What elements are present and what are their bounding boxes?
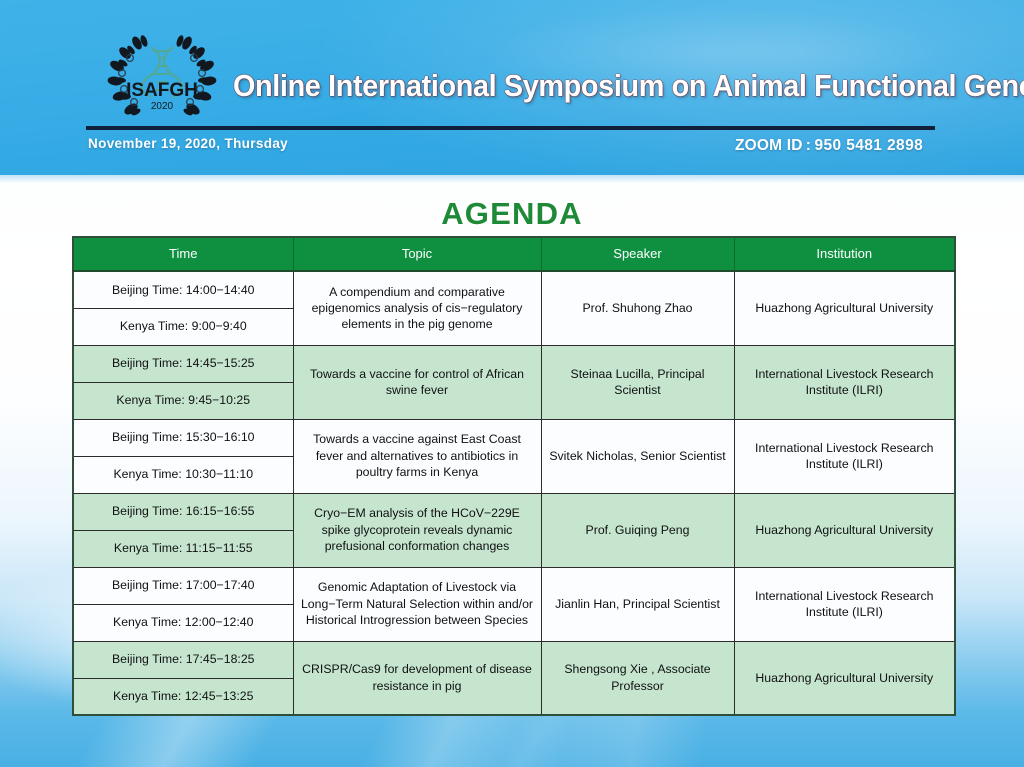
column-header-speaker: Speaker [541, 237, 734, 271]
table-row: Beijing Time: 15:30−16:10Towards a vacci… [73, 419, 955, 456]
session-speaker: Shengsong Xie , Associate Professor [541, 641, 734, 715]
column-header-time: Time [73, 237, 293, 271]
banner-bottom-fade [0, 175, 1024, 183]
session-speaker: Prof. Shuhong Zhao [541, 271, 734, 345]
session-topic: Cryo−EM analysis of the HCoV−229E spike … [293, 493, 541, 567]
column-header-topic: Topic [293, 237, 541, 271]
zoom-id-number: 950 5481 2898 [814, 137, 923, 154]
session-speaker: Prof. Guiqing Peng [541, 493, 734, 567]
session-speaker: Steinaa Lucilla, Principal Scientist [541, 345, 734, 419]
poster-page: ISAFGH 2020 Online International Symposi… [0, 0, 1024, 767]
table-row: Beijing Time: 14:00−14:40A compendium an… [73, 271, 955, 308]
agenda-table: Time Topic Speaker Institution Beijing T… [72, 236, 956, 716]
session-speaker: Jianlin Han, Principal Scientist [541, 567, 734, 641]
zoom-id-separator: : [803, 137, 815, 154]
time-kenya: Kenya Time: 9:45−10:25 [73, 382, 293, 419]
header-divider-rule [86, 126, 935, 130]
session-institution: International Livestock Research Institu… [734, 567, 955, 641]
session-institution: Huazhong Agricultural University [734, 641, 955, 715]
agenda-table-body: Beijing Time: 14:00−14:40A compendium an… [73, 271, 955, 715]
session-institution: International Livestock Research Institu… [734, 345, 955, 419]
time-kenya: Kenya Time: 9:00−9:40 [73, 308, 293, 345]
symposium-title: Online International Symposium on Animal… [233, 64, 898, 110]
zoom-id-block: ZOOM ID:950 5481 2898 [735, 137, 923, 155]
zoom-id-label: ZOOM ID [735, 137, 803, 154]
time-kenya: Kenya Time: 12:00−12:40 [73, 604, 293, 641]
table-row: Beijing Time: 16:15−16:55Cryo−EM analysi… [73, 493, 955, 530]
table-row: Beijing Time: 17:45−18:25CRISPR/Cas9 for… [73, 641, 955, 678]
time-kenya: Kenya Time: 12:45−13:25 [73, 678, 293, 715]
session-topic: Genomic Adaptation of Livestock via Long… [293, 567, 541, 641]
column-header-institution: Institution [734, 237, 955, 271]
time-beijing: Beijing Time: 15:30−16:10 [73, 419, 293, 456]
session-topic: Towards a vaccine for control of African… [293, 345, 541, 419]
agenda-heading: AGENDA [0, 196, 1024, 232]
session-institution: Huazhong Agricultural University [734, 493, 955, 567]
session-topic: A compendium and comparative epigenomics… [293, 271, 541, 345]
agenda-table-container: Time Topic Speaker Institution Beijing T… [72, 236, 956, 716]
time-beijing: Beijing Time: 17:45−18:25 [73, 641, 293, 678]
session-topic: Towards a vaccine against East Coast fev… [293, 419, 541, 493]
time-beijing: Beijing Time: 17:00−17:40 [73, 567, 293, 604]
time-kenya: Kenya Time: 10:30−11:10 [73, 456, 293, 493]
session-topic: CRISPR/Cas9 for development of disease r… [293, 641, 541, 715]
session-speaker: Svitek Nicholas, Senior Scientist [541, 419, 734, 493]
logo-acronym-text: ISAFGH [126, 80, 198, 101]
table-row: Beijing Time: 17:00−17:40Genomic Adaptat… [73, 567, 955, 604]
logo-year-text: 2020 [151, 101, 174, 112]
time-beijing: Beijing Time: 14:45−15:25 [73, 345, 293, 382]
table-row: Beijing Time: 14:45−15:25Towards a vacci… [73, 345, 955, 382]
session-institution: Huazhong Agricultural University [734, 271, 955, 345]
agenda-table-header-row: Time Topic Speaker Institution [73, 237, 955, 271]
time-beijing: Beijing Time: 14:00−14:40 [73, 271, 293, 308]
time-kenya: Kenya Time: 11:15−11:55 [73, 530, 293, 567]
event-date: November 19, 2020, Thursday [88, 136, 288, 151]
header-banner: ISAFGH 2020 Online International Symposi… [0, 0, 1024, 175]
isafgh-logo: ISAFGH 2020 [103, 33, 221, 121]
session-institution: International Livestock Research Institu… [734, 419, 955, 493]
time-beijing: Beijing Time: 16:15−16:55 [73, 493, 293, 530]
